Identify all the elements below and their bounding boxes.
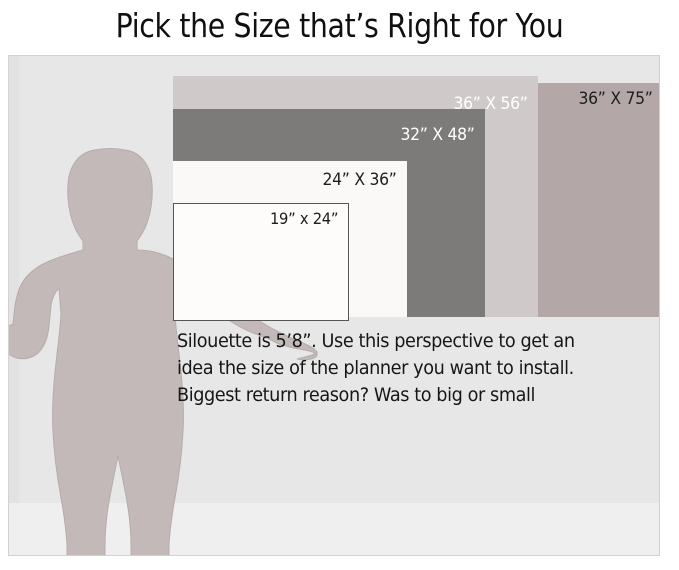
size-label-19x24: 19” x 24” [270, 209, 338, 228]
caption-line-1: Silouette is 5’8”. Use this perspective … [177, 328, 642, 355]
wall-left-band [9, 56, 19, 556]
poster-stage: Pick the Size that’s Right for You 36” X… [0, 0, 679, 570]
caption-block: Silouette is 5’8”. Use this perspective … [177, 328, 642, 409]
size-label-24x36: 24” X 36” [323, 170, 397, 190]
floor-band [9, 503, 660, 556]
caption-line-2: idea the size of the planner you want to… [177, 355, 642, 382]
page-title: Pick the Size that’s Right for You [48, 2, 632, 50]
caption-line-3: Biggest return reason? Was to big or sma… [177, 382, 642, 409]
size-rect-19x24[interactable]: 19” x 24” [173, 203, 349, 321]
size-rect-36x75[interactable]: 36” X 75” [538, 83, 660, 317]
size-comparison-panel: 36” X 75” 36” X 56” 32” X 48” 24” X 36” … [8, 55, 660, 556]
size-label-32x48: 32” X 48” [401, 125, 475, 145]
size-label-36x75: 36” X 75” [579, 89, 653, 109]
